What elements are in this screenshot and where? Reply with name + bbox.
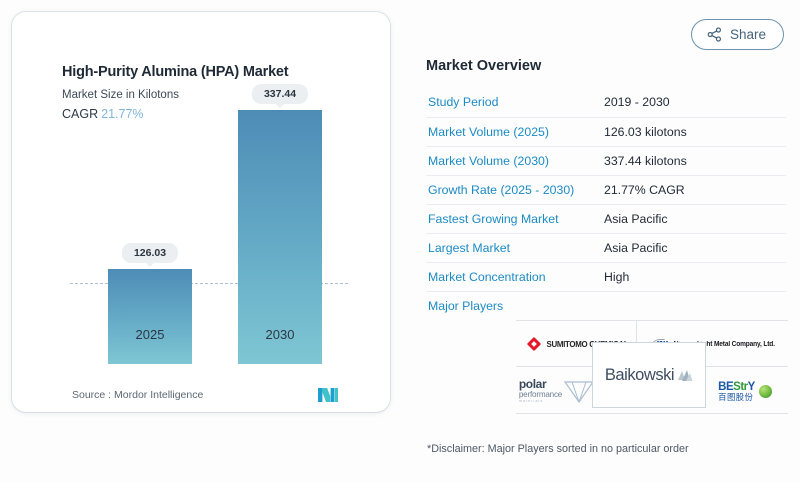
row-key: Fastest Growing Market <box>426 204 604 233</box>
bar-2025[interactable] <box>108 269 192 364</box>
overview-title: Market Overview <box>426 58 541 74</box>
overview-table: Study Period 2019 - 2030 Market Volume (… <box>426 88 786 320</box>
row-key: Major Players <box>426 291 604 320</box>
baikowski-label: Baikowski <box>605 366 674 385</box>
share-icon <box>707 27 722 42</box>
x-axis-tick-2025: 2025 <box>136 327 165 342</box>
table-row: Market Concentration High <box>426 262 786 291</box>
disclaimer-text: *Disclaimer: Major Players sorted in no … <box>427 443 689 455</box>
row-value: Asia Pacific <box>604 233 786 262</box>
polar-label-3: materials <box>519 400 562 404</box>
bar-value-label-2025: 126.03 <box>122 243 178 263</box>
table-row: Market Volume (2030) 337.44 kilotons <box>426 146 786 175</box>
table-row: Market Volume (2025) 126.03 kilotons <box>426 117 786 146</box>
row-key: Market Volume (2030) <box>426 146 604 175</box>
market-overview-panel: Share Market Overview Study Period 2019 … <box>420 12 788 472</box>
bestry-label-part3: Y <box>748 381 755 393</box>
x-axis-tick-2030: 2030 <box>266 327 295 342</box>
row-value <box>604 291 786 320</box>
mordor-intelligence-logo <box>318 388 338 402</box>
chart-card: High-Purity Alumina (HPA) Market Market … <box>12 12 390 412</box>
baikowski-crystal-icon <box>676 367 693 384</box>
row-value: 2019 - 2030 <box>604 88 786 117</box>
row-value: Asia Pacific <box>604 204 786 233</box>
table-row: Largest Market Asia Pacific <box>426 233 786 262</box>
bar-group-2030: 337.44 2030 <box>238 74 322 364</box>
bestry-chinese-label: 百图股份 <box>718 393 755 402</box>
row-key: Largest Market <box>426 233 604 262</box>
bestry-label-part2: Str <box>733 381 747 393</box>
polar-label-1: polar <box>519 378 562 390</box>
source-text: Source : Mordor Intelligence <box>72 389 203 401</box>
row-key: Market Volume (2025) <box>426 117 604 146</box>
logo-polar-performance-materials: polar performance materials <box>518 370 596 412</box>
polar-label-2: performance <box>519 391 562 399</box>
bestry-label: BEStrY <box>718 381 755 393</box>
logo-bestry: BEStrY 百图股份 <box>702 370 788 412</box>
row-value: 126.03 kilotons <box>604 117 786 146</box>
bestry-label-part1: BE <box>718 381 733 393</box>
bestry-globe-icon <box>759 385 772 398</box>
table-row: Growth Rate (2025 - 2030) 21.77% CAGR <box>426 175 786 204</box>
row-key: Growth Rate (2025 - 2030) <box>426 175 604 204</box>
page-root: High-Purity Alumina (HPA) Market Market … <box>0 0 800 482</box>
table-row: Study Period 2019 - 2030 <box>426 88 786 117</box>
bar-group-2025: 126.03 2025 <box>108 104 192 364</box>
logo-baikowski: Baikowski <box>592 342 706 408</box>
row-value: 337.44 kilotons <box>604 146 786 175</box>
row-value: High <box>604 262 786 291</box>
bar-2030[interactable] <box>238 110 322 364</box>
share-button-label: Share <box>730 27 766 42</box>
row-value: 21.77% CAGR <box>604 175 786 204</box>
sumitomo-diamond-icon <box>526 337 540 351</box>
bar-value-label-2030: 337.44 <box>252 84 308 104</box>
row-key: Study Period <box>426 88 604 117</box>
table-row-major-players: Major Players <box>426 291 786 320</box>
table-row: Fastest Growing Market Asia Pacific <box>426 204 786 233</box>
chart-source-row: Source : Mordor Intelligence <box>72 388 338 402</box>
share-button[interactable]: Share <box>691 19 784 50</box>
bar-chart-plot: 126.03 2025 337.44 2030 <box>12 12 390 412</box>
major-players-logo-grid: SUMITOMO CHEMICAL LM Nippon Light Metal … <box>516 320 788 414</box>
polar-gem-icon <box>563 377 595 405</box>
row-key: Market Concentration <box>426 262 604 291</box>
